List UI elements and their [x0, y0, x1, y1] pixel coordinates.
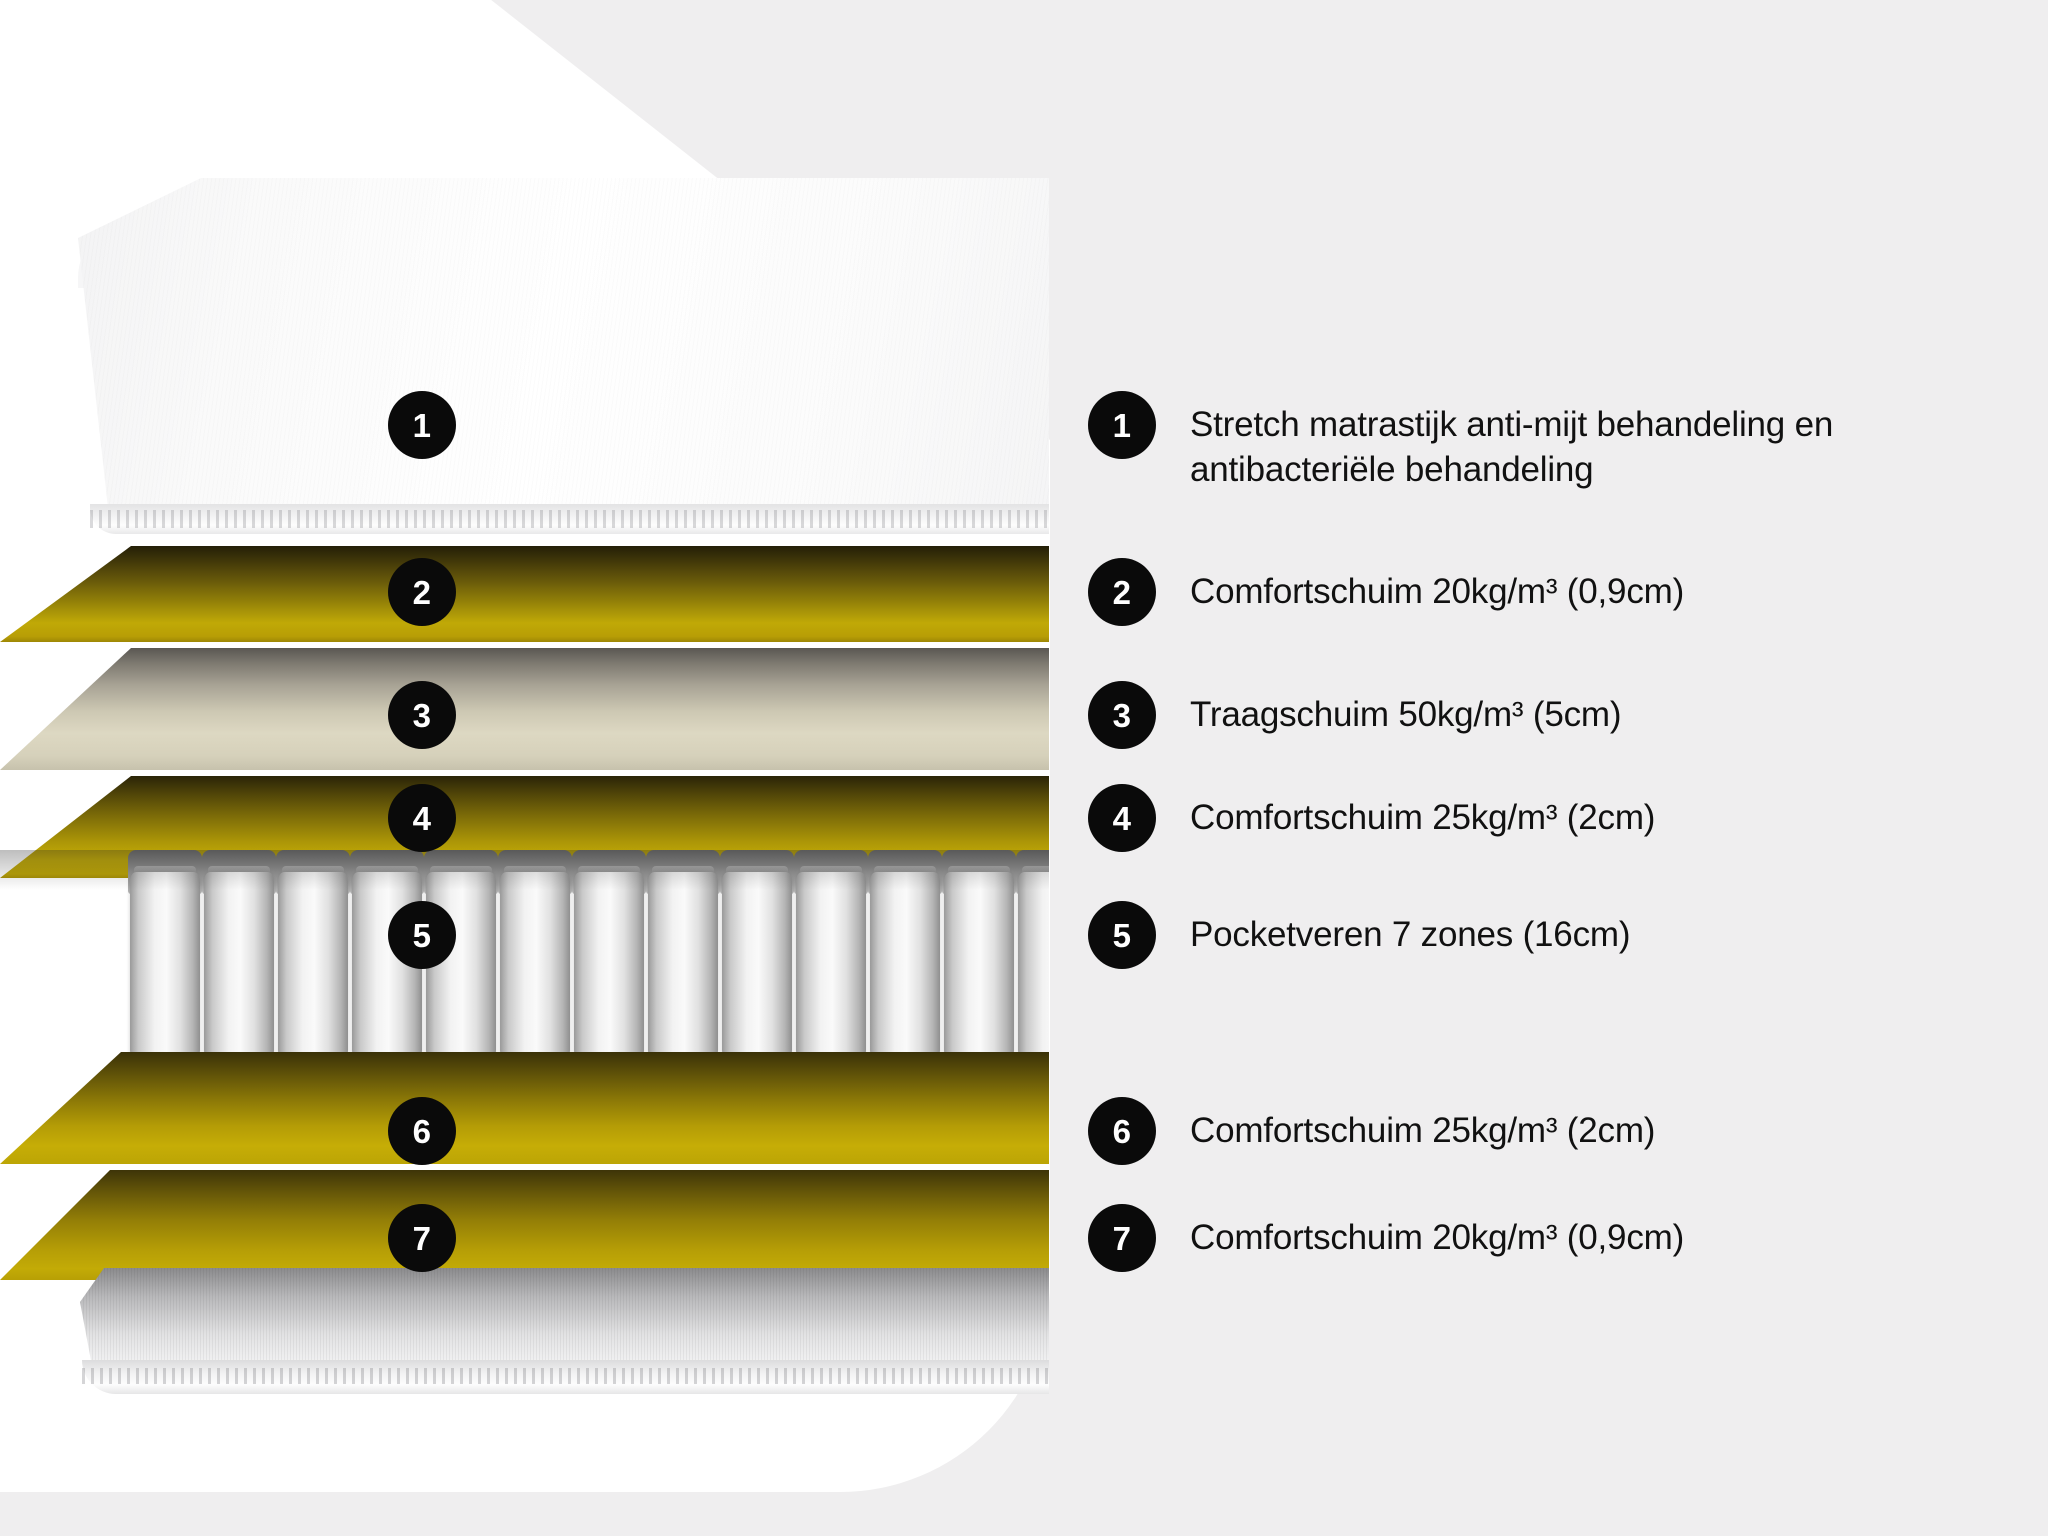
diagram-badge-5: 5 [388, 901, 456, 969]
mattress-layer-5-pocket-springs [0, 850, 1049, 1070]
legend-label-5: Pocketveren 7 zones (16cm) [1190, 901, 1630, 958]
legend-label-4: Comfortschuim 25kg/m³ (2cm) [1190, 784, 1655, 841]
diagram-badge-7: 7 [388, 1204, 456, 1272]
mattress-layer-1-stretch-cover [78, 178, 1049, 534]
mattress-layer-2-comfort-foam [0, 546, 1049, 642]
foam-face [0, 1170, 1049, 1280]
mattress-layer-6-comfort-foam [0, 1052, 1049, 1164]
pocket-spring [276, 850, 350, 1070]
legend-badge-4: 4 [1088, 784, 1156, 852]
diagram-badge-3: 3 [388, 681, 456, 749]
legend-label-2: Comfortschuim 20kg/m³ (0,9cm) [1190, 558, 1684, 615]
legend-item-5: 5 Pocketveren 7 zones (16cm) [1088, 901, 1630, 969]
cover-welt-seam [90, 504, 1049, 534]
pocket-spring [498, 850, 572, 1070]
cover-top-face [78, 178, 1049, 508]
legend-badge-7: 7 [1088, 1204, 1156, 1272]
diagram-badge-1: 1 [388, 391, 456, 459]
legend-badge-1: 1 [1088, 391, 1156, 459]
legend-item-2: 2 Comfortschuim 20kg/m³ (0,9cm) [1088, 558, 1684, 626]
pocket-spring [720, 850, 794, 1070]
pocket-spring-row [128, 850, 1049, 1070]
diagram-badge-4: 4 [388, 784, 456, 852]
pocket-spring [1016, 850, 1049, 1070]
mattress-base-fabric [80, 1268, 1049, 1394]
legend-item-3: 3 Traagschuim 50kg/m³ (5cm) [1088, 681, 1621, 749]
pocket-spring [868, 850, 942, 1070]
diagram-badge-6: 6 [388, 1097, 456, 1165]
mattress-cutaway-illustration: 1 2 3 4 5 6 7 [0, 0, 1049, 1536]
base-face [80, 1268, 1049, 1366]
legend-label-7: Comfortschuim 20kg/m³ (0,9cm) [1190, 1204, 1684, 1261]
mattress-layers-infographic: 1 2 3 4 5 6 7 1 Stretch matrastijk anti-… [0, 0, 2048, 1536]
diagram-badge-2: 2 [388, 558, 456, 626]
legend-label-6: Comfortschuim 25kg/m³ (2cm) [1190, 1097, 1655, 1154]
legend-item-6: 6 Comfortschuim 25kg/m³ (2cm) [1088, 1097, 1655, 1165]
mattress-layer-7-comfort-foam [0, 1170, 1049, 1280]
pocket-spring [128, 850, 202, 1070]
legend-label-3: Traagschuim 50kg/m³ (5cm) [1190, 681, 1621, 738]
legend-badge-6: 6 [1088, 1097, 1156, 1165]
legend-item-4: 4 Comfortschuim 25kg/m³ (2cm) [1088, 784, 1655, 852]
pocket-spring [572, 850, 646, 1070]
base-welt-seam [82, 1360, 1049, 1394]
foam-face [0, 546, 1049, 642]
legend-badge-2: 2 [1088, 558, 1156, 626]
legend-badge-5: 5 [1088, 901, 1156, 969]
foam-face [0, 648, 1049, 770]
pocket-spring [794, 850, 868, 1070]
mattress-layer-3-memory-foam [0, 648, 1049, 770]
legend-badge-3: 3 [1088, 681, 1156, 749]
layer-legend-list: 1 Stretch matrastijk anti-mijt behandeli… [1088, 0, 2008, 1536]
legend-item-7: 7 Comfortschuim 20kg/m³ (0,9cm) [1088, 1204, 1684, 1272]
pocket-spring [646, 850, 720, 1070]
legend-item-1: 1 Stretch matrastijk anti-mijt behandeli… [1088, 391, 1980, 493]
legend-label-1: Stretch matrastijk anti-mijt behandeling… [1190, 391, 1980, 493]
pocket-spring [942, 850, 1016, 1070]
pocket-spring [202, 850, 276, 1070]
foam-face [0, 1052, 1049, 1164]
